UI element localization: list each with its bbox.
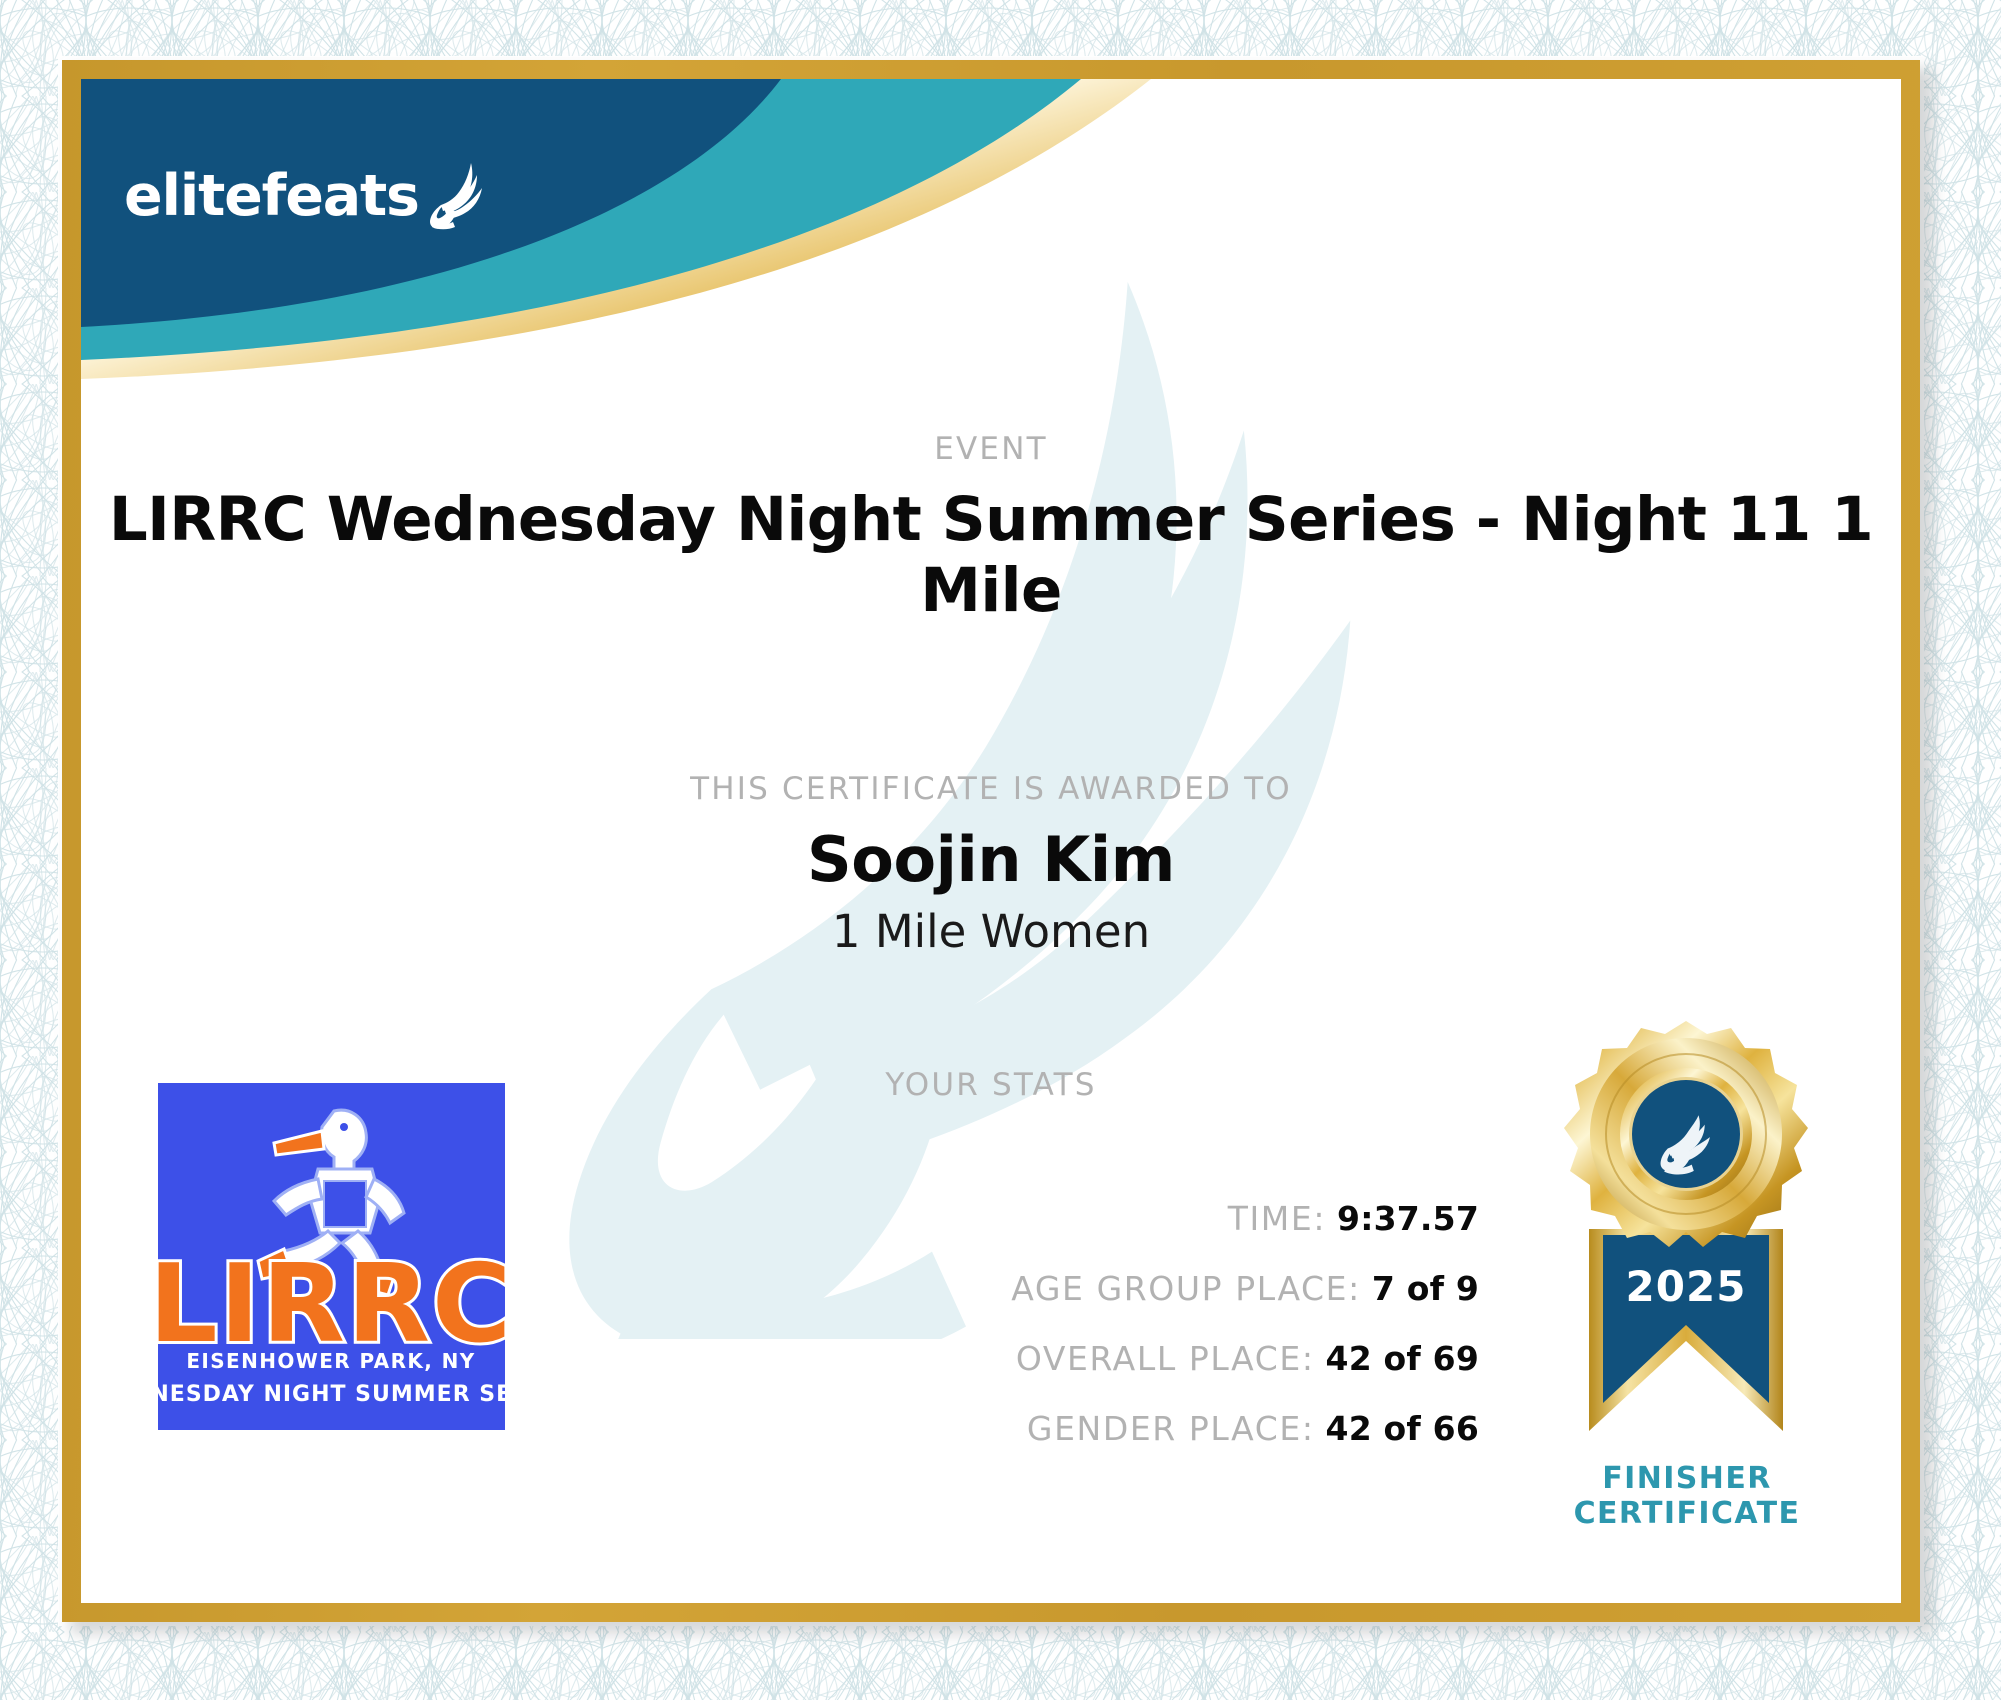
stat-value-gender-place: 42 of 66 bbox=[1326, 1409, 1479, 1448]
certificate-content: EVENT LIRRC Wednesday Night Summer Serie… bbox=[81, 79, 1901, 1603]
lirrc-series-text: WEDNESDAY NIGHT SUMMER SERIES bbox=[158, 1382, 505, 1407]
awarded-to-label: THIS CERTIFICATE IS AWARDED TO bbox=[81, 771, 1901, 807]
seal-year-text: 2025 bbox=[1626, 1262, 1747, 1311]
stat-value-overall-place: 42 of 69 bbox=[1326, 1339, 1479, 1378]
division-name: 1 Mile Women bbox=[81, 905, 1901, 958]
seal-caption-line-1: FINISHER bbox=[1497, 1461, 1877, 1496]
stat-label-overall-place: OVERALL PLACE: bbox=[1016, 1339, 1315, 1378]
certificate-body: elitefeats EVEN bbox=[81, 79, 1901, 1603]
event-title: LIRRC Wednesday Night Summer Series - Ni… bbox=[81, 484, 1901, 626]
seal-rosette bbox=[1564, 1021, 1808, 1247]
seal-caption: FINISHER CERTIFICATE bbox=[1497, 1461, 1877, 1531]
winged-foot-icon bbox=[425, 161, 487, 231]
seal-ribbon bbox=[1589, 1229, 1783, 1431]
stat-label-gender-place: GENDER PLACE: bbox=[1027, 1409, 1315, 1448]
elitefeats-logo: elitefeats bbox=[124, 161, 487, 225]
stat-value-age-group-place: 7 of 9 bbox=[1372, 1269, 1479, 1308]
recipient-name: Soojin Kim bbox=[81, 823, 1901, 896]
event-label: EVENT bbox=[81, 431, 1901, 467]
stat-value-time: 9:37.57 bbox=[1337, 1199, 1479, 1238]
stat-label-time: TIME: bbox=[1228, 1199, 1326, 1238]
stat-label-age-group-place: AGE GROUP PLACE: bbox=[1011, 1269, 1361, 1308]
lirrc-location-text: EISENHOWER PARK, NY bbox=[186, 1349, 475, 1373]
finisher-seal: 2025 bbox=[1511, 1011, 1861, 1511]
brand-wordmark: elitefeats bbox=[124, 168, 419, 225]
certificate-page: elitefeats EVEN bbox=[0, 0, 2001, 1700]
lirrc-race-logo: LIRRC EISENHOWER PARK, NY WEDNESDAY NIGH… bbox=[158, 1083, 505, 1430]
seal-caption-line-2: CERTIFICATE bbox=[1497, 1496, 1877, 1531]
